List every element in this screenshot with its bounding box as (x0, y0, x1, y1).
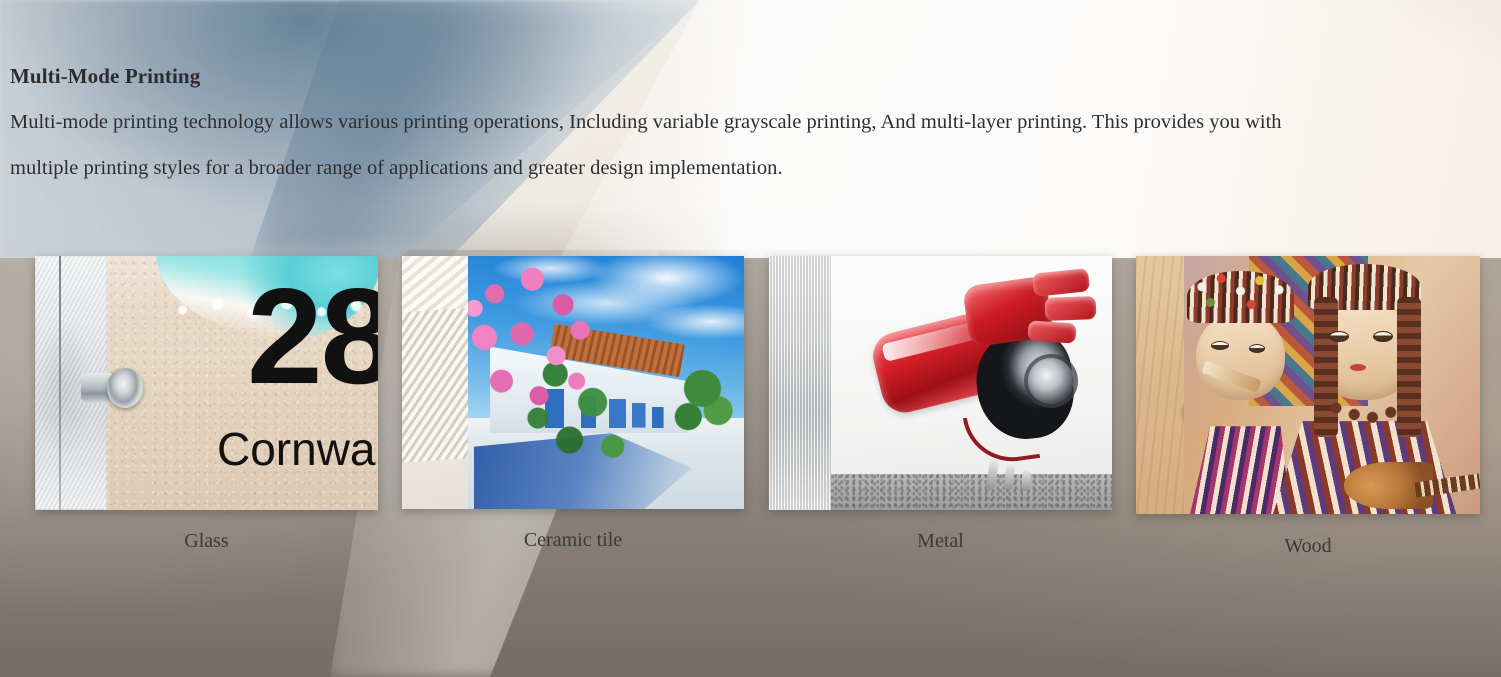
section-copy: Multi-Mode Printing Multi-mode printing … (10, 64, 1430, 191)
floral-crown-graphic (1187, 266, 1294, 318)
bougainvillea-blossom-graphic (468, 261, 628, 443)
plaque-house-number: 28 (247, 268, 378, 404)
material-card-glass[interactable]: 28 Cornwall Ro Glass (35, 256, 378, 510)
material-caption-ceramic-tile: Ceramic tile (402, 529, 744, 552)
material-card-wood[interactable]: Wood (1136, 256, 1480, 514)
printed-metal-panel (831, 256, 1112, 510)
right-tree-graphic (667, 352, 739, 453)
page-title: Multi-Mode Printing (10, 64, 1430, 89)
left-figure-face-graphic (1196, 313, 1285, 401)
robot-finger-graphic (1032, 268, 1090, 297)
material-card-metal[interactable]: Metal (769, 256, 1112, 510)
robot-finger-graphic (1027, 320, 1076, 344)
robot-piston-graphic (1022, 469, 1031, 491)
eye-graphic (1249, 344, 1265, 353)
printed-folk-art-graphic (1184, 256, 1480, 514)
material-caption-metal: Metal (769, 530, 1112, 553)
standoff-cap (107, 368, 143, 408)
multi-mode-printing-section: Multi-Mode Printing Multi-mode printing … (0, 0, 1501, 677)
robot-finger-graphic (1044, 296, 1095, 321)
metal-sample-image[interactable] (769, 256, 1112, 510)
necklace-graphic (1326, 390, 1409, 426)
glass-sample-image[interactable]: 28 Cornwall Ro (35, 256, 378, 510)
material-card-list: 28 Cornwall Ro Glass (0, 256, 1501, 556)
material-caption-glass: Glass (35, 530, 378, 553)
material-caption-wood: Wood (1136, 535, 1480, 558)
brushed-metal-edge (769, 256, 831, 510)
printed-plaque-surface: 28 Cornwall Ro (107, 256, 378, 510)
ceramic-tile-sample-image[interactable] (402, 256, 744, 509)
section-description: Multi-mode printing technology allows va… (10, 99, 1430, 191)
robot-cable-graphic (963, 409, 1041, 468)
eye-graphic (1211, 341, 1229, 350)
wood-sample-image[interactable] (1136, 256, 1480, 514)
glass-panel-edge-line (59, 256, 61, 510)
material-card-ceramic-tile[interactable]: Ceramic tile (402, 256, 744, 509)
concrete-floor-graphic (831, 474, 1112, 510)
standoff-mount-icon (81, 368, 143, 408)
robot-core-ring-graphic (1028, 358, 1074, 404)
printed-street-scene (468, 256, 744, 509)
plaque-street-name: Cornwall Ro (217, 422, 378, 476)
blank-tile-edge (402, 256, 468, 509)
eye-graphic (1329, 331, 1349, 342)
